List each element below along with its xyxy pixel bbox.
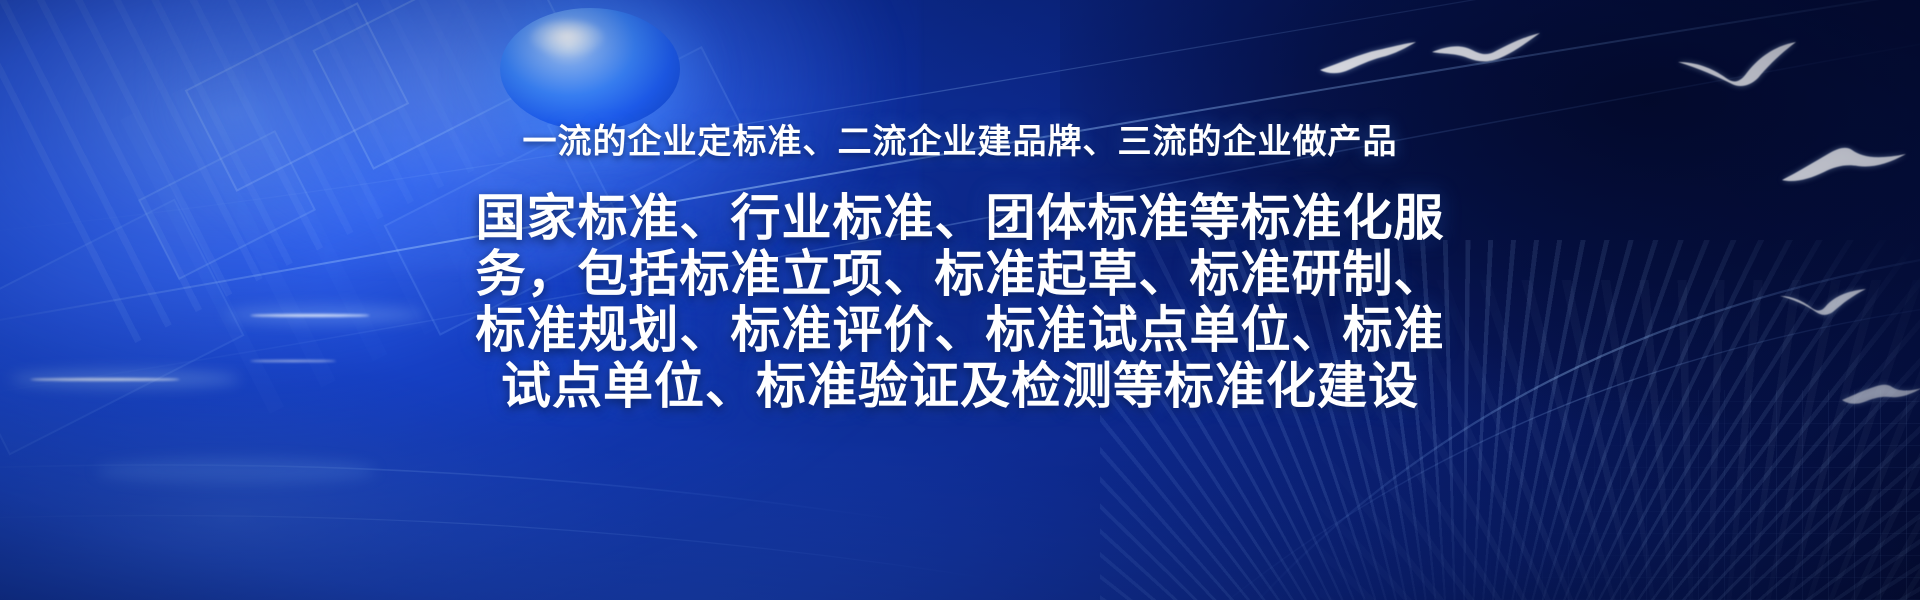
banner-body-line: 标准规划、标准评价、标准试点单位、标准 — [445, 302, 1475, 358]
promo-banner: 一流的企业定标准、二流企业建品牌、三流的企业做产品 国家标准、行业标准、团体标准… — [0, 0, 1920, 600]
banner-body: 国家标准、行业标准、团体标准等标准化服 务，包括标准立项、标准起草、标准研制、 … — [445, 190, 1475, 414]
banner-body-line: 国家标准、行业标准、团体标准等标准化服 — [445, 190, 1475, 246]
banner-body-line: 务，包括标准立项、标准起草、标准研制、 — [445, 246, 1475, 302]
banner-body-line: 试点单位、标准验证及检测等标准化建设 — [445, 358, 1475, 414]
banner-content: 一流的企业定标准、二流企业建品牌、三流的企业做产品 国家标准、行业标准、团体标准… — [0, 0, 1920, 600]
banner-headline: 一流的企业定标准、二流企业建品牌、三流的企业做产品 — [0, 114, 1920, 163]
